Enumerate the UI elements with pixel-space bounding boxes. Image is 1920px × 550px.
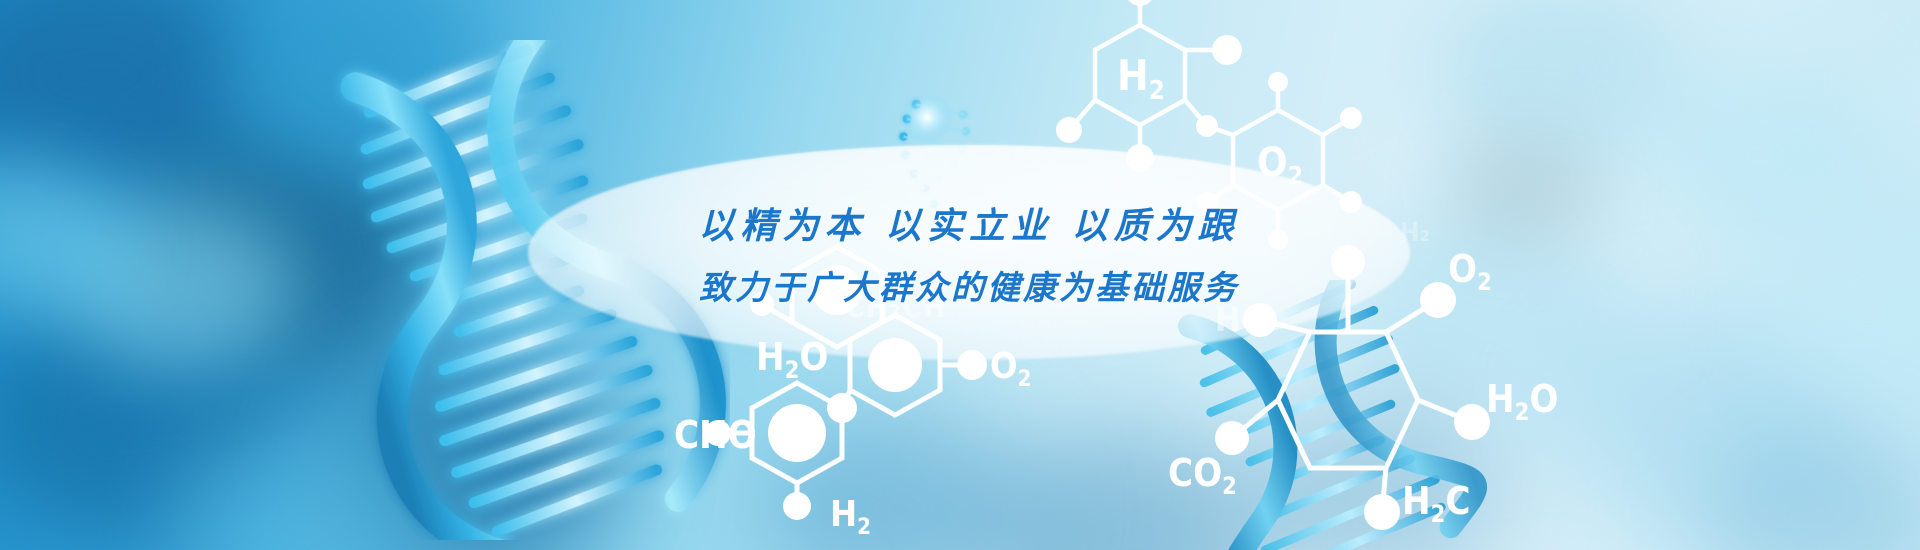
slogan-line-primary: 以精为本 以实立业 以质为跟 bbox=[698, 197, 1239, 249]
molecule-label-h2-bl: H2 bbox=[830, 494, 871, 540]
molecule-label-o2-br: O2 bbox=[1448, 247, 1492, 296]
slogan-block: 以精为本 以实立业 以质为跟 致力于广大群众的健康为基础服务 bbox=[528, 145, 1410, 360]
molecule-label-h2: H2 bbox=[1117, 51, 1165, 106]
molecule-label-h2c: H2C bbox=[1402, 479, 1470, 528]
molecule-label-cho: CHO bbox=[674, 413, 757, 457]
molecule-label-h2o-br: H2O bbox=[1486, 377, 1558, 426]
promo-banner: H2 O2 bbox=[0, 0, 1920, 550]
molecule-label-co2: CO2 bbox=[1168, 451, 1237, 500]
slogan-line-secondary: 致力于广大群众的健康为基础服务 bbox=[699, 261, 1239, 309]
